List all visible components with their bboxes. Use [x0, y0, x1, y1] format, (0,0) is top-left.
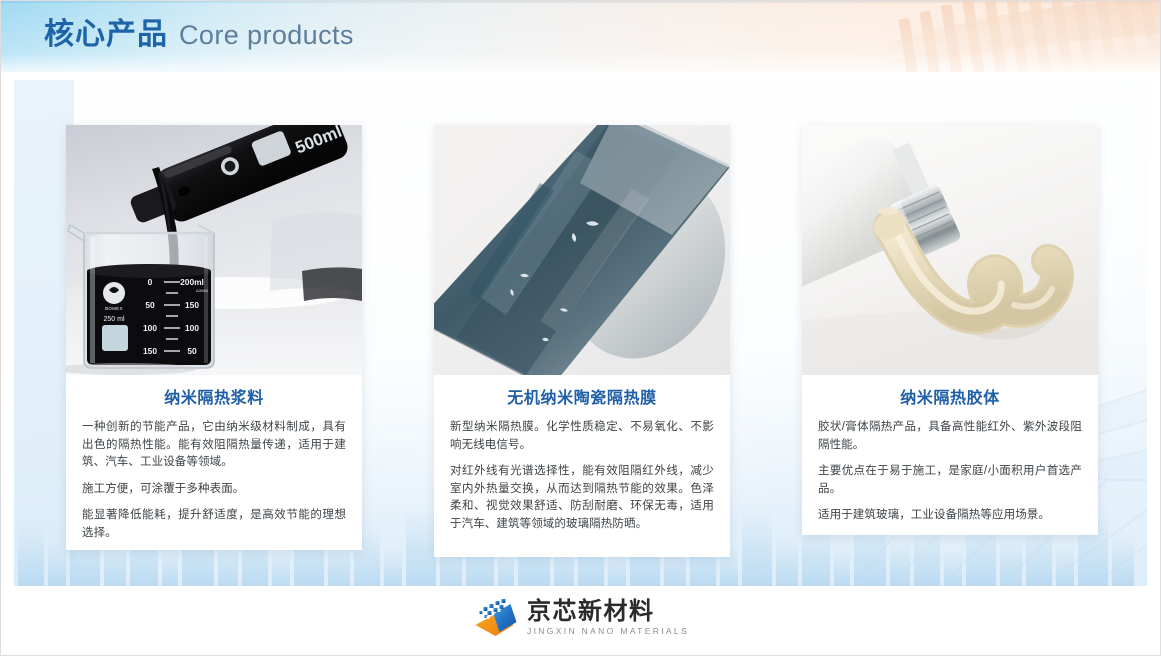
svg-text:0: 0	[148, 277, 153, 287]
card-image-film	[434, 125, 730, 375]
svg-text:100: 100	[185, 323, 199, 333]
card-image-paste	[802, 125, 1098, 375]
classical-columns-watermark-icon	[877, 0, 1161, 72]
beaker-pouring-black-liquid-photo: 500ml	[66, 125, 362, 375]
svg-text:100: 100	[143, 323, 157, 333]
card-paragraph: 施工方便，可涂覆于多种表面。	[82, 481, 346, 499]
rolled-tinted-insulation-film-photo	[434, 125, 730, 375]
card-paragraph: 对红外线有光谱选择性，能有效阻隔红外线，减少室内外热量交换，从而达到隔热节能的效…	[450, 463, 714, 533]
card-paragraph: 一种创新的节能产品，它由纳米级材料制成，具有出色的隔热性能。能有效阻隔热量传递，…	[82, 419, 346, 472]
logo-name-cn: 京芯新材料	[527, 599, 689, 625]
card-title: 纳米隔热浆料	[82, 389, 346, 409]
logo-text-block: 京芯新材料 JINGXIN NANO MATERIALS	[527, 599, 689, 637]
tube-squeezing-beige-paste-photo	[802, 125, 1098, 375]
product-card-nano-insulation-slurry[interactable]: 500ml	[66, 125, 362, 550]
card-paragraph: 能显著降低能耗，提升舒适度，是高效节能的理想选择。	[82, 507, 346, 542]
svg-text:200ml: 200ml	[180, 277, 204, 287]
card-title: 无机纳米陶瓷隔热膜	[450, 389, 714, 409]
page-title: 核心产品 Core products	[44, 18, 354, 52]
slide-footer: 京芯新材料 JINGXIN NANO MATERIALS	[0, 586, 1161, 656]
card-title: 纳米隔热胶体	[818, 389, 1082, 409]
card-paragraph: 新型纳米隔热膜。化学性质稳定、不易氧化、不影响无线电信号。	[450, 419, 714, 454]
card-paragraph: 适用于建筑玻璃，工业设备隔热等应用场景。	[818, 507, 1082, 525]
svg-text:150: 150	[143, 346, 157, 356]
svg-text:50: 50	[187, 346, 197, 356]
card-image-beaker: 500ml	[66, 125, 362, 375]
product-card-list: 500ml	[66, 125, 1098, 557]
card-paragraph: 胶状/膏体隔热产品，具备高性能红外、紫外波段阻隔性能。	[818, 419, 1082, 454]
card-body: 无机纳米陶瓷隔热膜 新型纳米隔热膜。化学性质稳定、不易氧化、不影响无线电信号。 …	[434, 375, 730, 549]
page-title-cn: 核心产品	[44, 18, 168, 52]
pixel-mosaic-rhombus-logo-icon	[472, 598, 518, 638]
svg-text:150: 150	[185, 300, 199, 310]
card-body: 纳米隔热浆料 一种创新的节能产品，它由纳米级材料制成，具有出色的隔热性能。能有效…	[66, 375, 362, 550]
page-title-en: Core products	[179, 19, 354, 51]
card-paragraph: 主要优点在于易于施工，是家庭/小面积用户首选产品。	[818, 463, 1082, 498]
svg-text:50: 50	[145, 300, 155, 310]
header-top-accent-line	[0, 0, 1161, 3]
product-card-nano-insulation-gel[interactable]: 纳米隔热胶体 胶状/膏体隔热产品，具备高性能红外、紫外波段阻隔性能。 主要优点在…	[802, 125, 1098, 535]
svg-text:250 ml: 250 ml	[103, 316, 124, 323]
content-panel: 500ml	[14, 80, 1147, 586]
product-card-ceramic-insulation-film[interactable]: 无机纳米陶瓷隔热膜 新型纳米隔热膜。化学性质稳定、不易氧化、不影响无线电信号。 …	[434, 125, 730, 557]
slide-canvas: 核心产品 Core products	[0, 0, 1161, 656]
card-body: 纳米隔热胶体 胶状/膏体隔热产品，具备高性能红外、紫外波段阻隔性能。 主要优点在…	[802, 375, 1098, 535]
svg-text:BOMEX: BOMEX	[105, 306, 123, 311]
slide-header: 核心产品 Core products	[0, 0, 1161, 72]
logo-name-en: JINGXIN NANO MATERIALS	[527, 626, 689, 637]
company-logo[interactable]: 京芯新材料 JINGXIN NANO MATERIALS	[472, 598, 689, 638]
